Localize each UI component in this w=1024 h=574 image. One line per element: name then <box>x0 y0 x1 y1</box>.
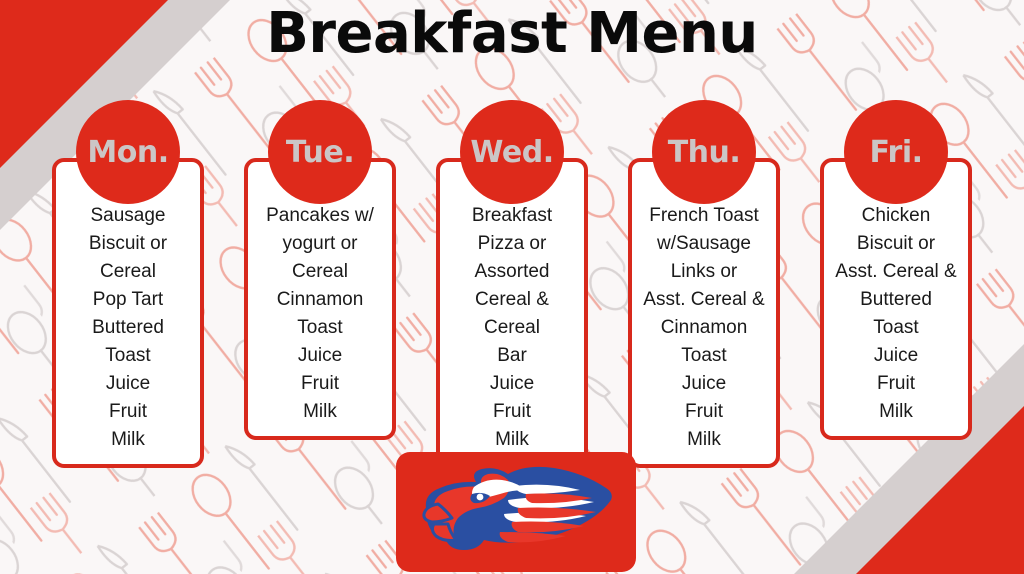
page-title: Breakfast Menu <box>0 2 1024 66</box>
day-label-fri: Fri. <box>869 138 922 168</box>
day-badge-fri: Fri. <box>844 100 948 204</box>
day-badge-thu: Thu. <box>652 100 756 204</box>
menu-card-wed: Breakfast Pizza or Assorted Cereal & Cer… <box>436 158 588 468</box>
menu-items-wed: Breakfast Pizza or Assorted Cereal & Cer… <box>444 202 580 454</box>
menu-card-mon: Sausage Biscuit or Cereal Pop Tart Butte… <box>52 158 204 468</box>
day-label-tue: Tue. <box>286 138 354 168</box>
day-badge-mon: Mon. <box>76 100 180 204</box>
menu-items-fri: Chicken Biscuit or Asst. Cereal & Butter… <box>828 202 964 426</box>
day-label-thu: Thu. <box>668 138 741 168</box>
menu-items-tue: Pancakes w/ yogurt or Cereal Cinnamon To… <box>252 202 388 426</box>
menu-items-mon: Sausage Biscuit or Cereal Pop Tart Butte… <box>60 202 196 454</box>
day-label-mon: Mon. <box>87 138 168 168</box>
menu-card-thu: French Toast w/Sausage Links or Asst. Ce… <box>628 158 780 468</box>
eagle-head-icon <box>408 460 624 564</box>
day-label-wed: Wed. <box>470 138 553 168</box>
breakfast-menu-poster: Breakfast Menu Sausage Biscuit or Cereal… <box>0 0 1024 574</box>
menu-items-thu: French Toast w/Sausage Links or Asst. Ce… <box>636 202 772 454</box>
day-badge-wed: Wed. <box>460 100 564 204</box>
school-logo-plate <box>396 452 636 572</box>
day-badge-tue: Tue. <box>268 100 372 204</box>
